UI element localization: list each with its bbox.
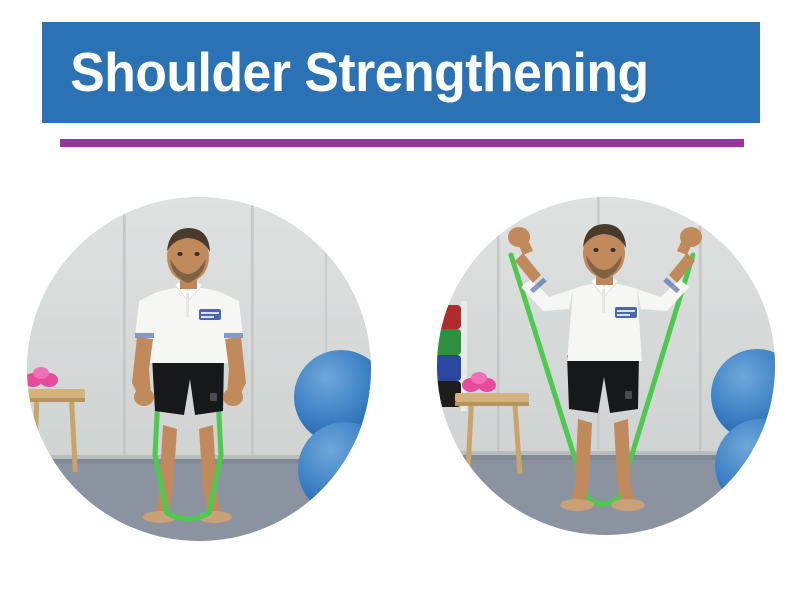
end-position-illustration xyxy=(437,197,775,535)
page-title: Shoulder Strengthening xyxy=(42,45,649,100)
slide-canvas: Shoulder Strengthening xyxy=(0,0,800,600)
title-bar: Shoulder Strengthening xyxy=(42,22,760,123)
start-position-illustration xyxy=(27,197,371,541)
photo-end-position xyxy=(437,197,775,535)
accent-divider-rule xyxy=(60,139,744,147)
photo-start-position xyxy=(27,197,371,541)
